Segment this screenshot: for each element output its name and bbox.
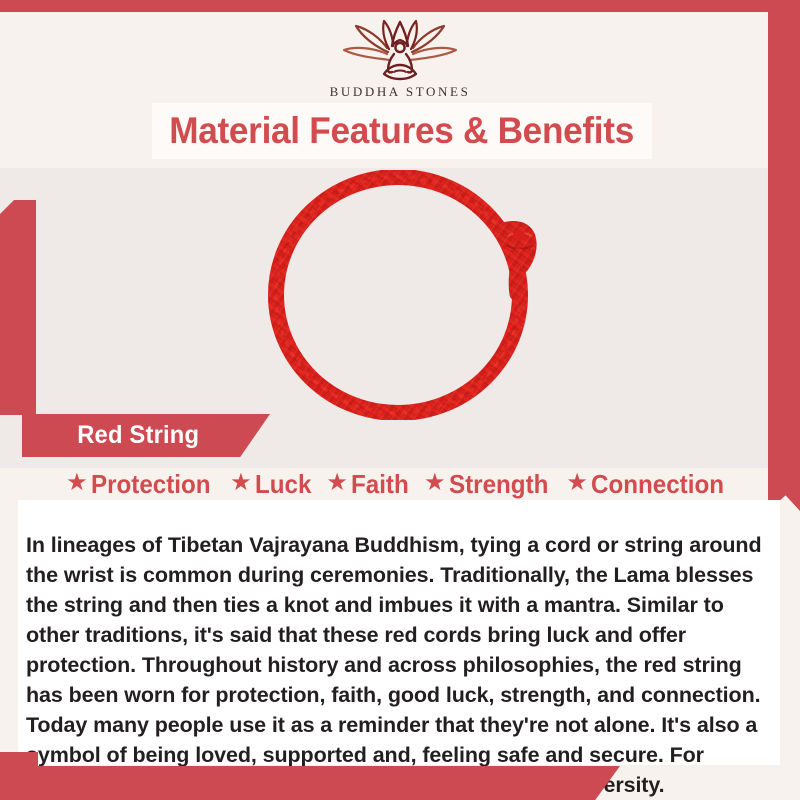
product-label: Red String — [77, 421, 199, 450]
feature-label: Faith — [351, 469, 409, 500]
star-icon: ★ — [326, 471, 348, 495]
star-icon: ★ — [230, 471, 252, 495]
frame-border-top — [0, 0, 800, 12]
feature-item: ★ Faith — [326, 469, 413, 500]
description-paragraph: In lineages of Tibetan Vajrayana Buddhis… — [26, 530, 774, 800]
feature-item: ★ Connection — [566, 469, 734, 500]
features-list: ★ Protection ★ Luck ★ Faith ★ Strength ★… — [22, 466, 778, 502]
product-image — [0, 170, 800, 420]
star-icon: ★ — [424, 471, 446, 495]
feature-label: Luck — [255, 469, 311, 500]
feature-item: ★ Protection — [66, 469, 219, 500]
star-icon: ★ — [566, 471, 588, 495]
infographic-poster: BUDDHA STONES Material Features & Benefi… — [0, 0, 800, 800]
bottom-accent-bar — [0, 766, 620, 800]
feature-label: Connection — [591, 469, 724, 500]
feature-item: ★ Strength — [424, 469, 555, 500]
lotus-meditation-icon — [330, 16, 470, 82]
feature-label: Strength — [449, 469, 548, 500]
product-label-banner: Red String — [22, 414, 270, 457]
feature-label: Protection — [91, 469, 211, 500]
brand-name: BUDDHA STONES — [0, 84, 800, 100]
page-title: Material Features & Benefits — [170, 110, 635, 152]
star-icon: ★ — [66, 471, 88, 495]
title-banner: Material Features & Benefits — [152, 103, 652, 159]
red-string-bracelet-illustration — [0, 170, 800, 420]
brand-logo: BUDDHA STONES — [0, 16, 800, 100]
feature-item: ★ Luck — [230, 469, 315, 500]
